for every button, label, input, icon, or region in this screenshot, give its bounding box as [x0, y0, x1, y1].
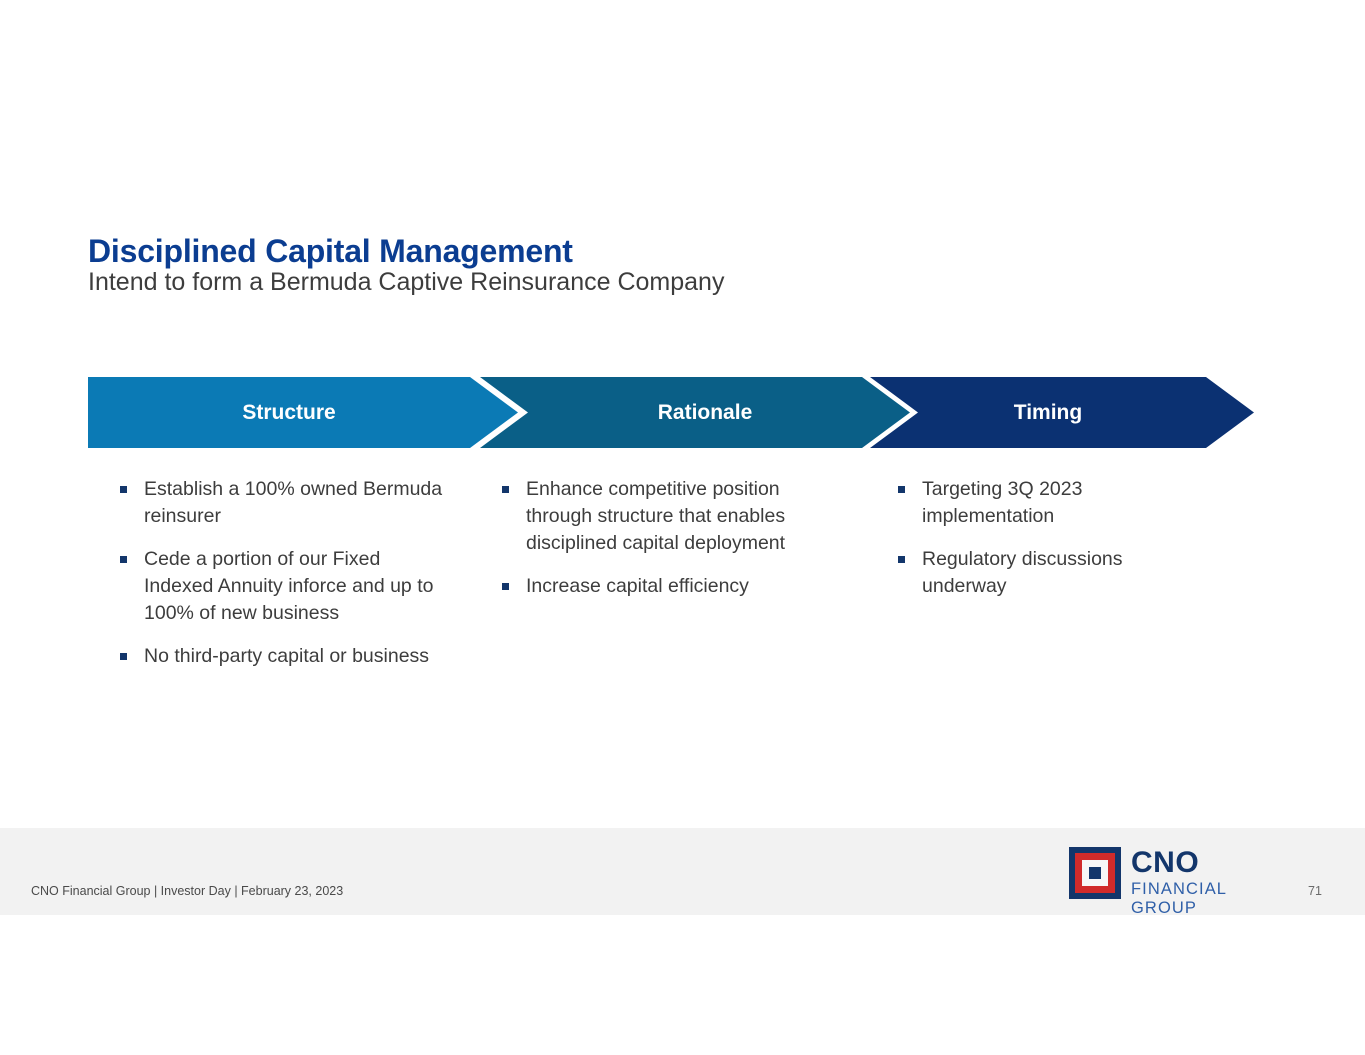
cno-logo: CNO FINANCIAL GROUP — [1069, 847, 1274, 899]
bullet-column-rationale: Enhance competitive position through str… — [500, 476, 805, 616]
list-item: Cede a portion of our Fixed Indexed Annu… — [118, 546, 448, 627]
page-title: Disciplined Capital Management — [88, 233, 573, 270]
slide: Disciplined Capital Management Intend to… — [0, 0, 1365, 1055]
list-item: Regulatory discussions underway — [896, 546, 1196, 600]
chevron-step-structure: Structure — [88, 377, 518, 448]
list-item: No third-party capital or business — [118, 643, 448, 670]
list-item: Establish a 100% owned Bermuda reinsurer — [118, 476, 448, 530]
cno-logo-name: CNO — [1131, 848, 1274, 878]
cno-logo-tagline: FINANCIAL GROUP — [1131, 880, 1274, 918]
cno-logo-wordmark: CNO FINANCIAL GROUP — [1131, 848, 1274, 918]
chevron-step-label: Structure — [242, 401, 335, 425]
list-item: Increase capital efficiency — [500, 573, 805, 600]
footer-attribution: CNO Financial Group | Investor Day | Feb… — [31, 884, 343, 898]
bullet-column-structure: Establish a 100% owned Bermuda reinsurer… — [118, 476, 448, 686]
cno-logo-mark-icon — [1069, 847, 1121, 899]
chevron-step-label: Rationale — [658, 401, 753, 425]
chevron-step-timing: Timing — [870, 377, 1254, 448]
bullet-column-timing: Targeting 3Q 2023 implementation Regulat… — [896, 476, 1196, 616]
page-number: 71 — [1308, 884, 1322, 898]
chevron-step-label: Timing — [1014, 401, 1082, 425]
process-chevron-band: Structure Rationale Timing — [88, 377, 1254, 448]
list-item: Enhance competitive position through str… — [500, 476, 805, 557]
page-subtitle: Intend to form a Bermuda Captive Reinsur… — [88, 268, 724, 297]
list-item: Targeting 3Q 2023 implementation — [896, 476, 1196, 530]
